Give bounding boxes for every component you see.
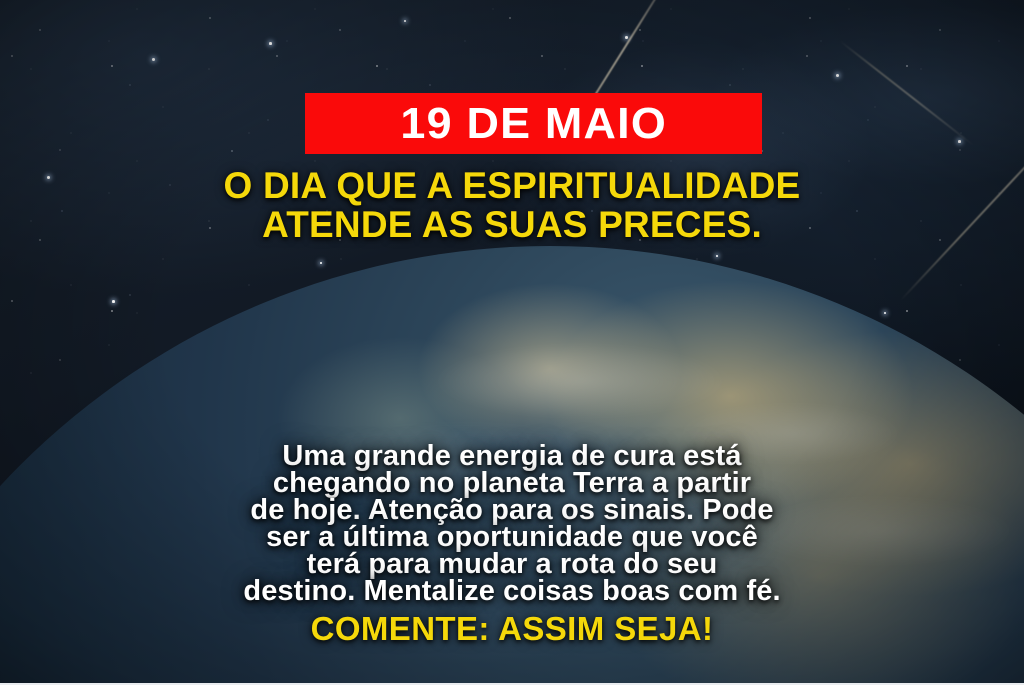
- headline: O DIA QUE A ESPIRITUALIDADE ATENDE AS SU…: [0, 166, 1024, 244]
- body-copy-line-1: Uma grande energia de cura está: [0, 443, 1024, 470]
- body-copy-line-6: destino. Mentalize coisas boas com fé.: [0, 578, 1024, 605]
- headline-line-1: O DIA QUE A ESPIRITUALIDADE: [0, 166, 1024, 205]
- call-to-action-text: COMENTE: ASSIM SEJA!: [0, 612, 1024, 645]
- poster-canvas: 19 DE MAIO O DIA QUE A ESPIRITUALIDADE A…: [0, 0, 1024, 685]
- body-copy-line-4: ser a última oportunidade que você: [0, 524, 1024, 551]
- date-banner: 19 DE MAIO: [305, 93, 762, 154]
- headline-line-2: ATENDE AS SUAS PRECES.: [0, 205, 1024, 244]
- date-banner-text: 19 DE MAIO: [400, 102, 667, 146]
- body-copy-line-2: chegando no planeta Terra a partir: [0, 470, 1024, 497]
- body-copy-line-3: de hoje. Atenção para os sinais. Pode: [0, 497, 1024, 524]
- body-copy-line-5: terá para mudar a rota do seu: [0, 551, 1024, 578]
- body-copy: Uma grande energia de cura está chegando…: [0, 443, 1024, 605]
- poster-content: 19 DE MAIO O DIA QUE A ESPIRITUALIDADE A…: [0, 0, 1024, 685]
